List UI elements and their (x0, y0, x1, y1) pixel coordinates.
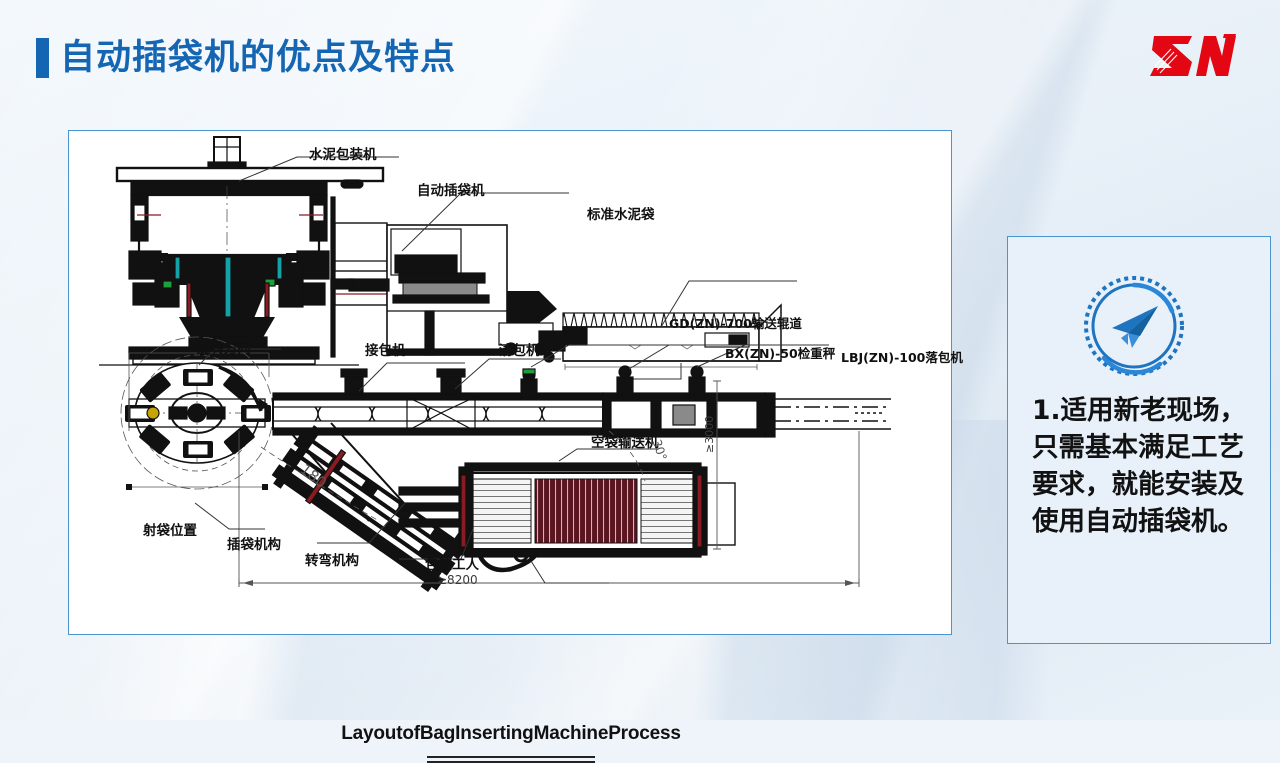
dimension-length: ≥8200 (437, 573, 478, 587)
label-bag-cleaner: 清包机 (499, 339, 540, 359)
label-bag-shoot-position: 射袋位置 (143, 519, 197, 539)
label-packing-worker: 包装工人 (425, 553, 479, 573)
slide-header: 自动插袋机的优点及特点 (0, 0, 1280, 110)
label-bag-receiver: 接包机 (365, 339, 406, 359)
label-empty-bag-conveyor: 空袋输送机 (591, 431, 659, 451)
label-cement-packer: 水泥包装机 (309, 143, 377, 163)
diagram-drawing (69, 131, 953, 636)
title-accent-bar (36, 38, 49, 78)
paper-plane-icon (1080, 272, 1188, 380)
label-bag-insert-mech: 插袋机构 (227, 533, 281, 553)
label-roller-conveyor: GD(ZN)-700输送辊道 (669, 313, 802, 332)
caption-underline (427, 756, 595, 763)
label-auto-bag-inserter: 自动插袋机 (417, 179, 485, 199)
zn-logo (1148, 30, 1238, 82)
label-rotation-direction: 旋转方向 (197, 337, 251, 357)
label-turning-mech: 转弯机构 (305, 549, 359, 569)
dimension-width: ≥3000 (703, 416, 716, 453)
diagram-caption: LayoutofBagInsertingMachineProcess (69, 723, 953, 745)
label-bag-dropper: LBJ(ZN)-100落包机 (841, 347, 963, 366)
label-check-weigher: BX(ZN)-50检重秤 (725, 343, 835, 362)
page-title: 自动插袋机的优点及特点 (60, 36, 456, 80)
feature-callout-text: 1.适用新老现场，只需基本满足工艺要求，就能安装及使用自动插袋机。 (1032, 392, 1248, 540)
label-standard-cement-bag: 标准水泥袋 (587, 203, 655, 223)
process-layout-diagram: 水泥包装机 自动插袋机 标准水泥袋 GD(ZN)-700输送辊道 BX(ZN)-… (68, 130, 952, 635)
